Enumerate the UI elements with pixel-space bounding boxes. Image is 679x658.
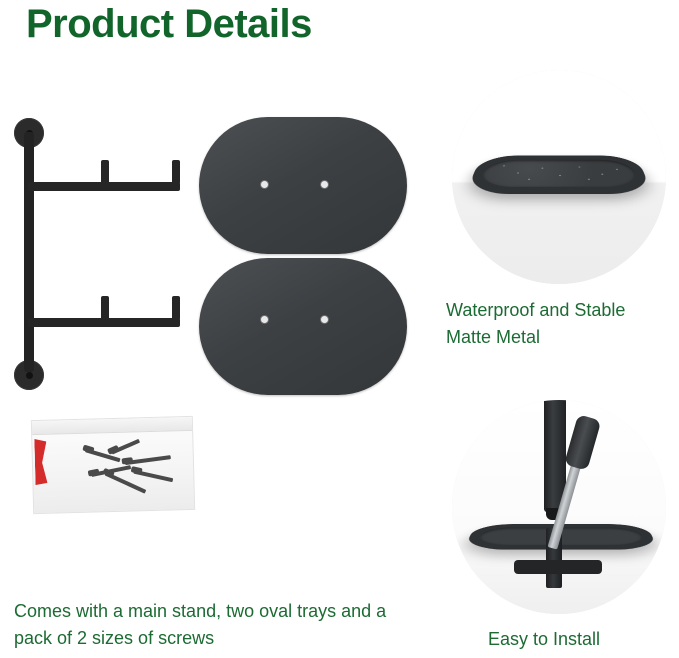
tray-hole-icon xyxy=(321,181,328,188)
bag-tear-notch xyxy=(34,439,47,485)
tray-hole-icon xyxy=(261,181,268,188)
inset-installation-closeup xyxy=(452,400,666,614)
matte-metal-tray xyxy=(465,156,653,195)
product-main-stand xyxy=(6,110,196,395)
screw-bag xyxy=(31,416,195,514)
stand-vertical-post xyxy=(24,132,34,372)
tray-basin xyxy=(478,160,640,187)
bag-seal xyxy=(32,417,192,435)
caption-waterproof-matte-metal: Waterproof and Stable Matte Metal xyxy=(446,297,672,351)
screw-icon xyxy=(125,455,171,465)
screw-icon xyxy=(111,439,140,455)
inset-matte-metal-closeup xyxy=(452,70,666,284)
page-title: Product Details xyxy=(26,2,312,46)
caption-easy-to-install: Easy to Install xyxy=(488,626,679,653)
oval-tray-lower xyxy=(199,258,407,395)
caption-package-contents: Comes with a main stand, two oval trays … xyxy=(14,598,414,652)
stand-arm-upper-lip-inner xyxy=(101,160,109,184)
stand-base-plate xyxy=(514,560,602,574)
oval-tray-upper xyxy=(199,117,407,254)
stand-arm-upper-lip-outer xyxy=(172,160,180,184)
tray-hole-icon xyxy=(261,316,268,323)
screw-icon xyxy=(133,470,173,483)
stand-arm-lower-lip-inner xyxy=(101,296,109,320)
stand-arm-lower-lip-outer xyxy=(172,296,180,320)
tray-hole-icon xyxy=(321,316,328,323)
